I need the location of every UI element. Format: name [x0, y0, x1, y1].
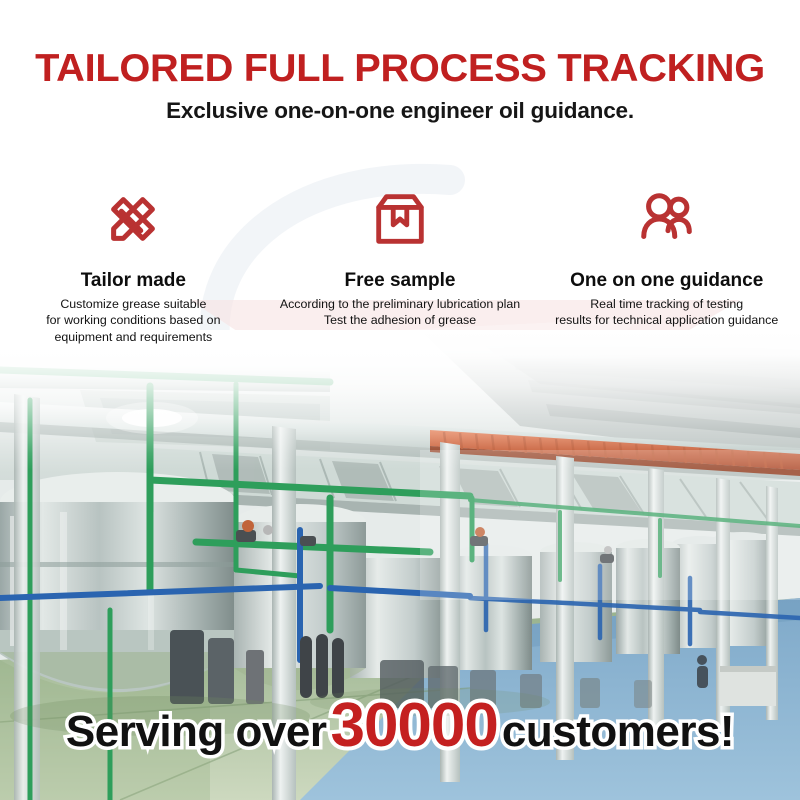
banner-number: 30000 — [326, 691, 501, 760]
feature-desc-line: results for technical application guidan… — [555, 312, 778, 328]
feature-desc-line: Real time tracking of testing — [555, 296, 778, 312]
feature-description: Customize grease suitable for working co… — [46, 296, 220, 345]
customers-banner: Serving over30000customers! — [0, 690, 800, 761]
feature-description: Real time tracking of testing results fo… — [555, 296, 778, 329]
feature-desc-line: equipment and requirements — [46, 329, 220, 345]
banner-suffix: customers! — [502, 707, 734, 756]
feature-one-on-one-guidance: One on one guidance Real time tracking o… — [533, 186, 800, 345]
feature-desc-line: Test the adhesion of grease — [280, 312, 520, 328]
feature-row: Tailor made Customize grease suitable fo… — [0, 186, 800, 345]
header: TAILORED FULL PROCESS TRACKING Exclusive… — [0, 0, 800, 123]
feature-desc-line: for working conditions based on — [46, 312, 220, 328]
feature-free-sample: Free sample According to the preliminary… — [267, 186, 534, 345]
feature-title: Free sample — [345, 271, 456, 291]
feature-desc-line: Customize grease suitable — [46, 296, 220, 312]
page-title: TAILORED FULL PROCESS TRACKING — [0, 49, 800, 88]
feature-tailor-made: Tailor made Customize grease suitable fo… — [0, 186, 267, 345]
page-subtitle: Exclusive one-on-one engineer oil guidan… — [0, 100, 800, 123]
feature-title: Tailor made — [81, 271, 186, 291]
banner-prefix: Serving over — [66, 707, 327, 756]
package-box-icon — [369, 186, 431, 252]
ruler-pencil-icon — [102, 186, 164, 252]
promo-poster: TAILORED FULL PROCESS TRACKING Exclusive… — [0, 0, 800, 800]
feature-desc-line: According to the preliminary lubrication… — [280, 296, 520, 312]
two-people-icon — [636, 186, 698, 252]
feature-description: According to the preliminary lubrication… — [280, 296, 520, 329]
feature-title: One on one guidance — [570, 271, 763, 291]
